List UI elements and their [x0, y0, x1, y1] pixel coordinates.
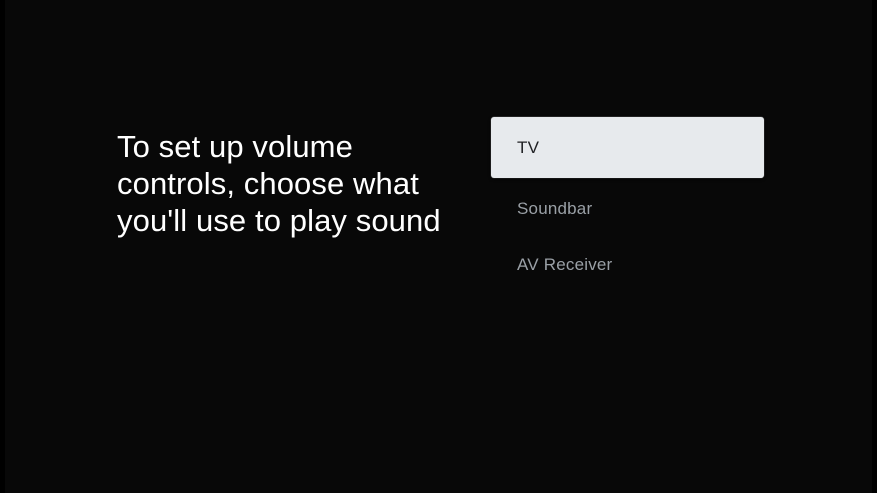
option-label: AV Receiver	[517, 255, 612, 275]
page-title: To set up volume controls, choose what y…	[117, 128, 447, 239]
setup-screen: To set up volume controls, choose what y…	[0, 0, 877, 493]
option-tv[interactable]: TV	[491, 117, 764, 178]
option-av-receiver[interactable]: AV Receiver	[491, 234, 764, 295]
option-label: Soundbar	[517, 199, 592, 219]
audio-output-option-list: TV Soundbar AV Receiver	[491, 117, 764, 295]
option-soundbar[interactable]: Soundbar	[491, 178, 764, 239]
screen-edge-right	[872, 0, 877, 493]
screen-edge-left	[0, 0, 5, 493]
option-label: TV	[517, 138, 539, 158]
